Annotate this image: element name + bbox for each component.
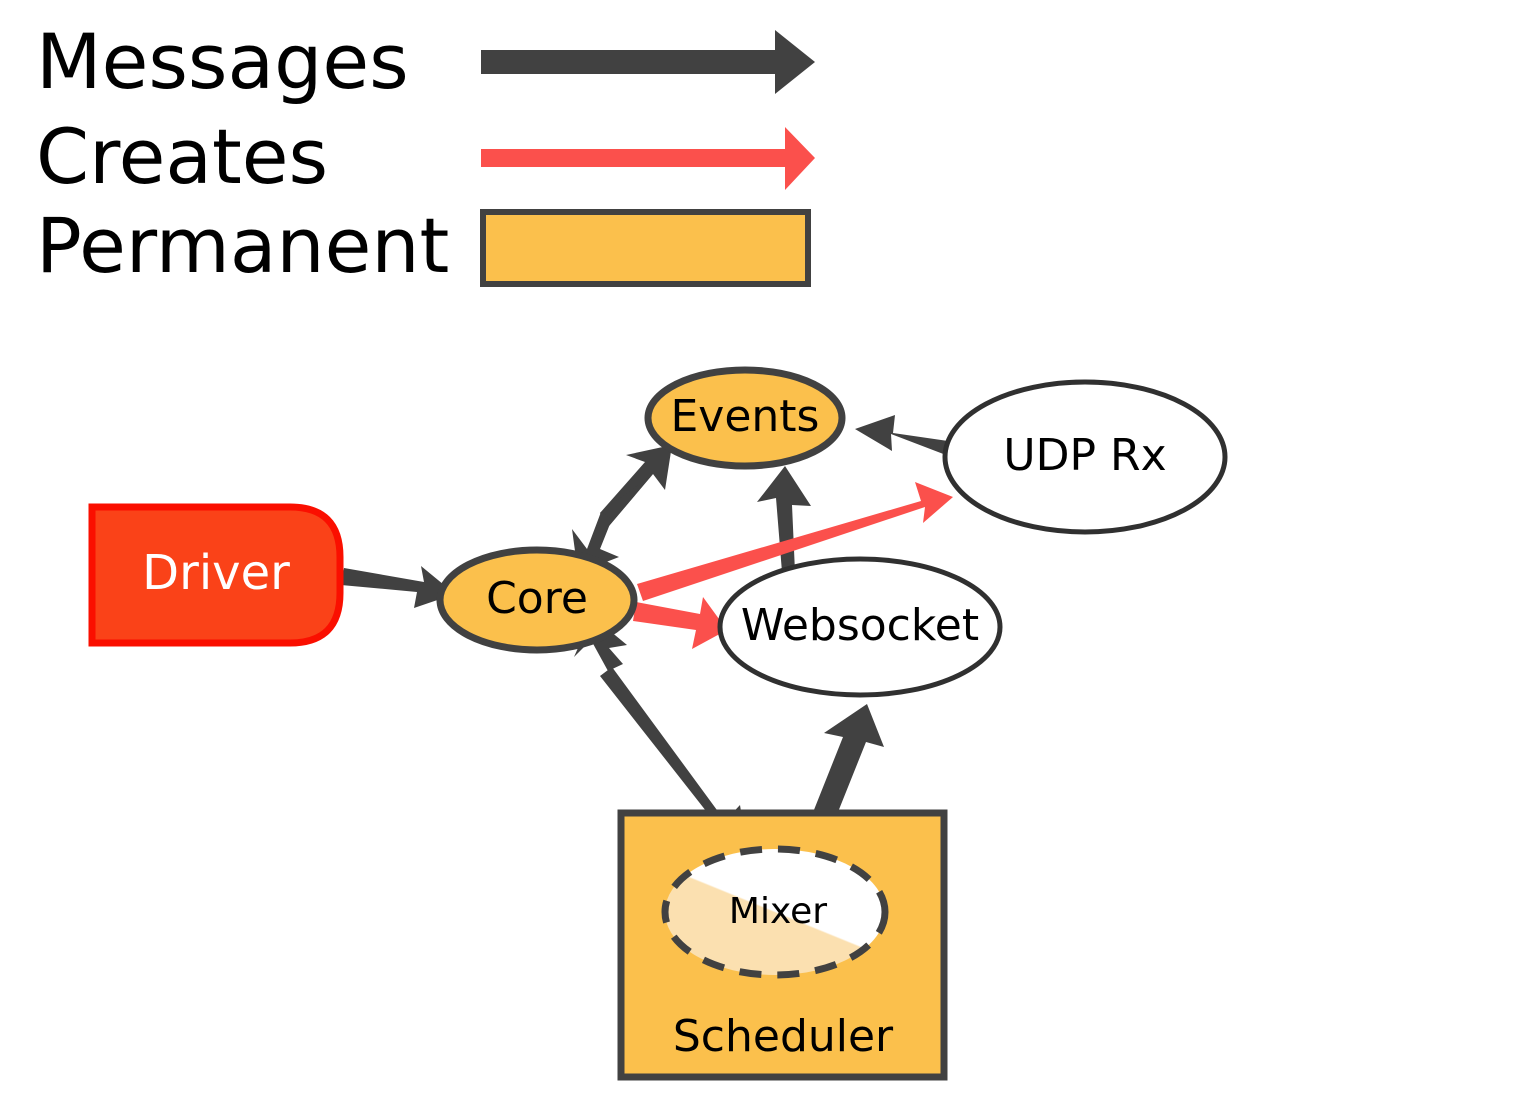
node-label-events: Events — [671, 391, 820, 442]
node-driver[interactable]: Driver — [92, 507, 340, 643]
rectangle-swatch-icon — [483, 212, 808, 284]
node-label-mixer: Mixer — [729, 891, 827, 932]
edge-core-to-websocket — [633, 597, 727, 649]
node-label-scheduler: Scheduler — [673, 1011, 894, 1062]
node-core[interactable]: Core — [440, 550, 634, 650]
node-mixer[interactable]: Mixer — [665, 849, 885, 975]
node-udp-rx[interactable]: UDP Rx — [945, 382, 1225, 532]
legend-row-messages: Messages — [36, 17, 815, 106]
node-label-websocket: Websocket — [741, 600, 979, 651]
node-events[interactable]: Events — [648, 370, 842, 466]
legend-label-messages: Messages — [36, 17, 409, 106]
node-label-core: Core — [486, 573, 588, 624]
node-label-driver: Driver — [142, 545, 290, 601]
diagram-canvas: Messages Creates Permanent — [0, 0, 1525, 1096]
right-arrow-icon — [481, 127, 815, 190]
right-arrow-icon — [481, 30, 815, 94]
legend-label-creates: Creates — [36, 112, 328, 201]
legend-row-creates: Creates — [36, 112, 815, 201]
node-label-udp-rx: UDP Rx — [1003, 430, 1166, 481]
legend: Messages Creates Permanent — [36, 17, 815, 290]
node-websocket[interactable]: Websocket — [720, 559, 1000, 695]
legend-label-permanent: Permanent — [36, 201, 449, 290]
architecture-diagram: Messages Creates Permanent — [0, 0, 1525, 1096]
edge-udprx-to-events — [855, 415, 948, 455]
legend-row-permanent: Permanent — [36, 201, 808, 290]
